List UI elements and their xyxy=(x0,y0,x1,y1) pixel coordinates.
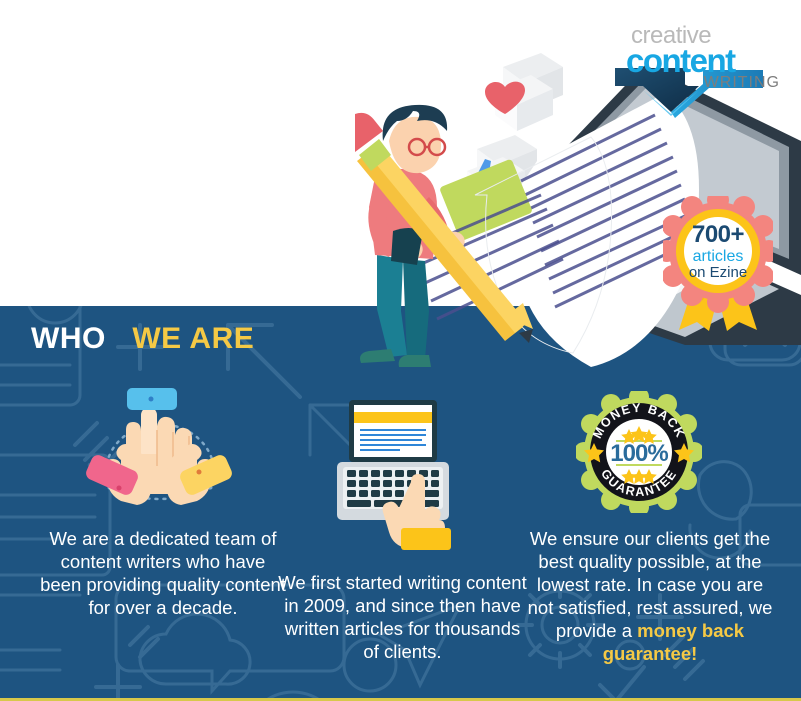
section-title-white: WHO xyxy=(31,322,106,355)
column-2-text: We first started writing content in 2009… xyxy=(276,572,529,664)
ezine-badge-label: articles xyxy=(663,248,773,265)
section-title: WHO WE ARE xyxy=(31,322,254,356)
money-badge-percent: 100% xyxy=(610,440,668,467)
ezine-badge-text: 700+ articles on Ezine xyxy=(663,222,773,281)
ezine-articles-badge: 700+ articles on Ezine xyxy=(663,196,773,331)
section-title-yellow: WE ARE xyxy=(132,322,254,355)
logo-text-writing: WRITING xyxy=(704,74,780,92)
brand-logo[interactable]: creative content WRITING xyxy=(603,22,783,108)
laptop-hand-icon xyxy=(327,396,457,551)
column-3-text: We ensure our clients get the best quali… xyxy=(522,528,778,666)
ezine-badge-source: on Ezine xyxy=(663,265,773,281)
column-1-text: We are a dedicated team of content write… xyxy=(38,528,288,620)
infographic-canvas: 12k Celebrating A Decade of creating qua… xyxy=(0,0,801,701)
teamwork-hands-icon xyxy=(85,380,235,510)
ezine-badge-count: 700+ xyxy=(663,222,773,248)
money-back-badge-icon: MONEY BACK GUARANTEE 100% xyxy=(576,391,702,513)
